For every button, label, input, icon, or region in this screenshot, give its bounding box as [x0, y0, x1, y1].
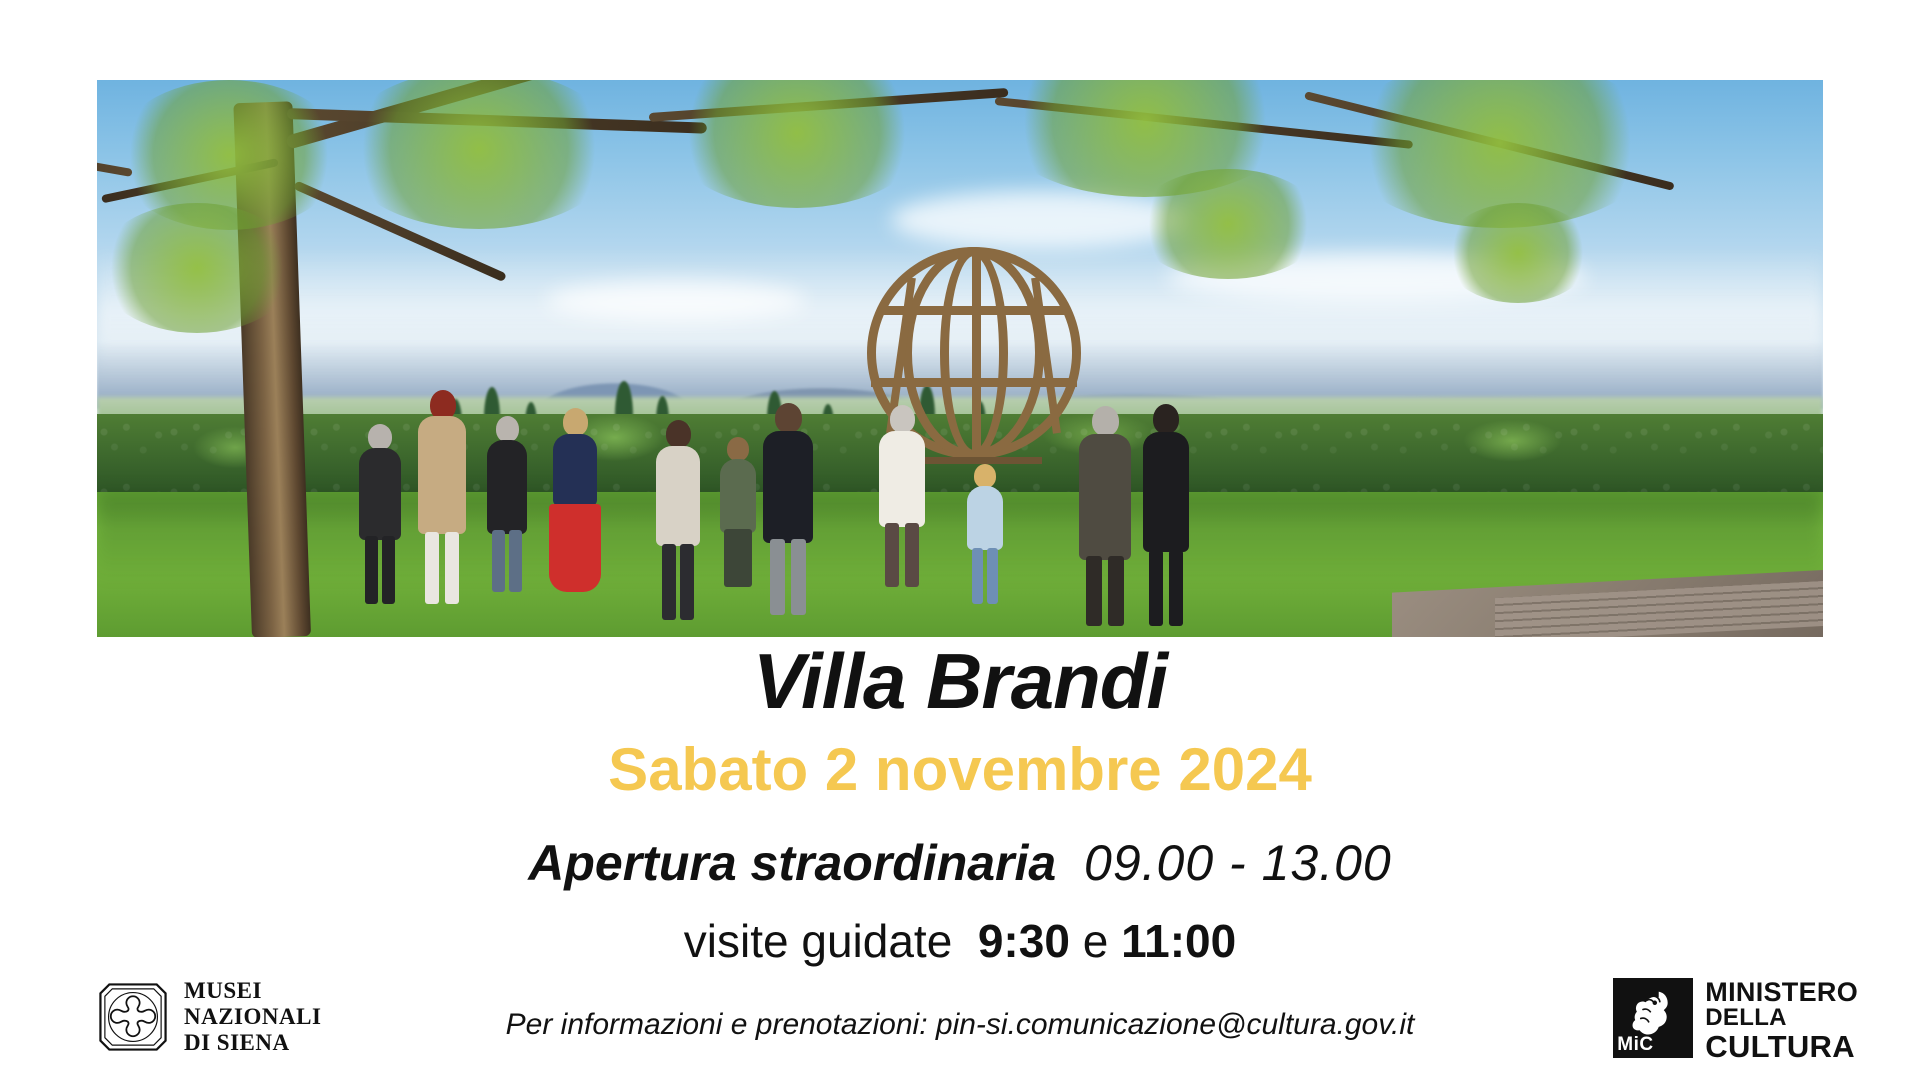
- lawn-shadow: [97, 492, 1823, 581]
- visitor-9: [1143, 404, 1189, 626]
- visitor-guide: [879, 405, 925, 587]
- visitor-4: [549, 408, 601, 592]
- visitor-5: [656, 420, 700, 620]
- event-date: Sabato 2 novembre 2024: [0, 740, 1920, 800]
- musei-nazionali-siena-logo: MUSEI NAZIONALI DI SIENA: [96, 978, 321, 1055]
- tours-label: visite guidate: [684, 915, 953, 967]
- visitor-child: [967, 464, 1003, 604]
- mns-line-3: DI SIENA: [184, 1030, 321, 1056]
- tours-line: visite guidate 9:30 e 11:00: [0, 918, 1920, 964]
- tour-time-2: 11:00: [1121, 915, 1236, 967]
- cloud-3: [546, 281, 806, 321]
- mic-lion-emblem-icon: MiC: [1613, 978, 1693, 1058]
- page-title: Villa Brandi: [0, 642, 1920, 720]
- mic-abbreviation: MiC: [1617, 1034, 1653, 1056]
- visitor-3: [487, 416, 527, 592]
- opening-hours: 09.00 - 13.00: [1084, 835, 1392, 891]
- mic-line-2: DELLA: [1705, 1006, 1858, 1031]
- opening-line: Apertura straordinaria 09.00 - 13.00: [0, 838, 1920, 888]
- tours-conjunction: e: [1083, 915, 1109, 967]
- event-photo: [97, 80, 1823, 637]
- visitor-7: [763, 403, 813, 615]
- tree-foliage-6: [97, 203, 297, 333]
- tree-foliage-8: [1443, 203, 1593, 303]
- mns-line-1: MUSEI: [184, 978, 321, 1004]
- mic-line-1: MINISTERO: [1705, 978, 1858, 1006]
- mic-line-3: CULTURA: [1705, 1031, 1858, 1063]
- tour-time-1: 9:30: [978, 915, 1070, 967]
- musei-nazionali-siena-wordmark: MUSEI NAZIONALI DI SIENA: [184, 978, 321, 1055]
- ministero-della-cultura-logo: MiC MINISTERO DELLA CULTURA: [1613, 978, 1858, 1063]
- visitor-1: [359, 424, 401, 604]
- mns-line-2: NAZIONALI: [184, 1004, 321, 1030]
- opening-label: Apertura straordinaria: [528, 835, 1056, 891]
- tree-foliage-7: [1133, 169, 1323, 279]
- visitor-8: [1079, 406, 1131, 626]
- musei-nazionali-siena-emblem-icon: [96, 980, 170, 1054]
- visitor-6: [720, 437, 756, 587]
- ministero-della-cultura-wordmark: MINISTERO DELLA CULTURA: [1705, 978, 1858, 1063]
- poster-canvas: Villa Brandi Sabato 2 novembre 2024 Aper…: [0, 0, 1920, 1080]
- visitor-2: [418, 390, 466, 604]
